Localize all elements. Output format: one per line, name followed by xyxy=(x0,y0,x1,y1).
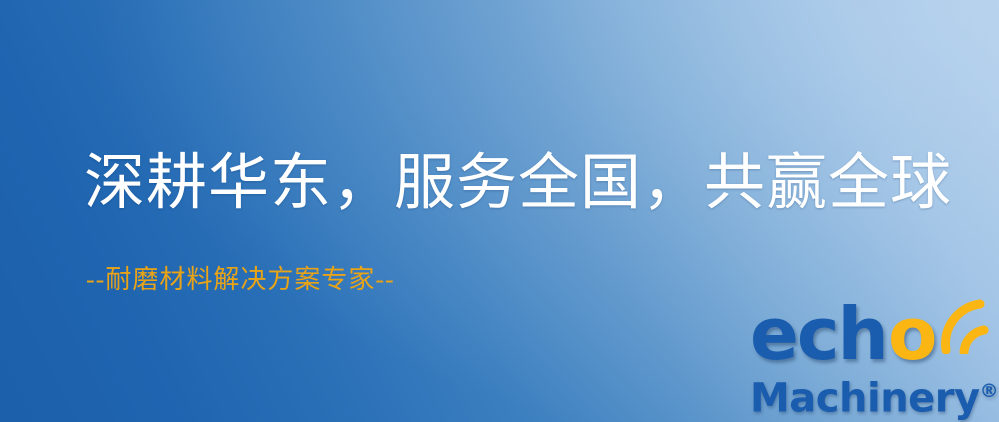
logo-text-machinery: Machinery® xyxy=(750,370,999,419)
signal-waves-icon xyxy=(930,292,999,354)
promotional-banner: 深耕华东，服务全国，共赢全球 --耐磨材料解决方案专家-- ech o Mach… xyxy=(0,0,999,422)
banner-headline: 深耕华东，服务全国，共赢全球 xyxy=(84,152,952,216)
logo-machinery-word: Machinery xyxy=(750,375,980,421)
logo-text-ech: ech xyxy=(750,298,887,370)
banner-subtitle: --耐磨材料解决方案专家-- xyxy=(86,266,395,295)
company-logo: ech o Machinery® xyxy=(748,296,996,422)
registered-trademark-icon: ® xyxy=(980,380,999,402)
logo-wordmark: ech o xyxy=(748,296,996,374)
